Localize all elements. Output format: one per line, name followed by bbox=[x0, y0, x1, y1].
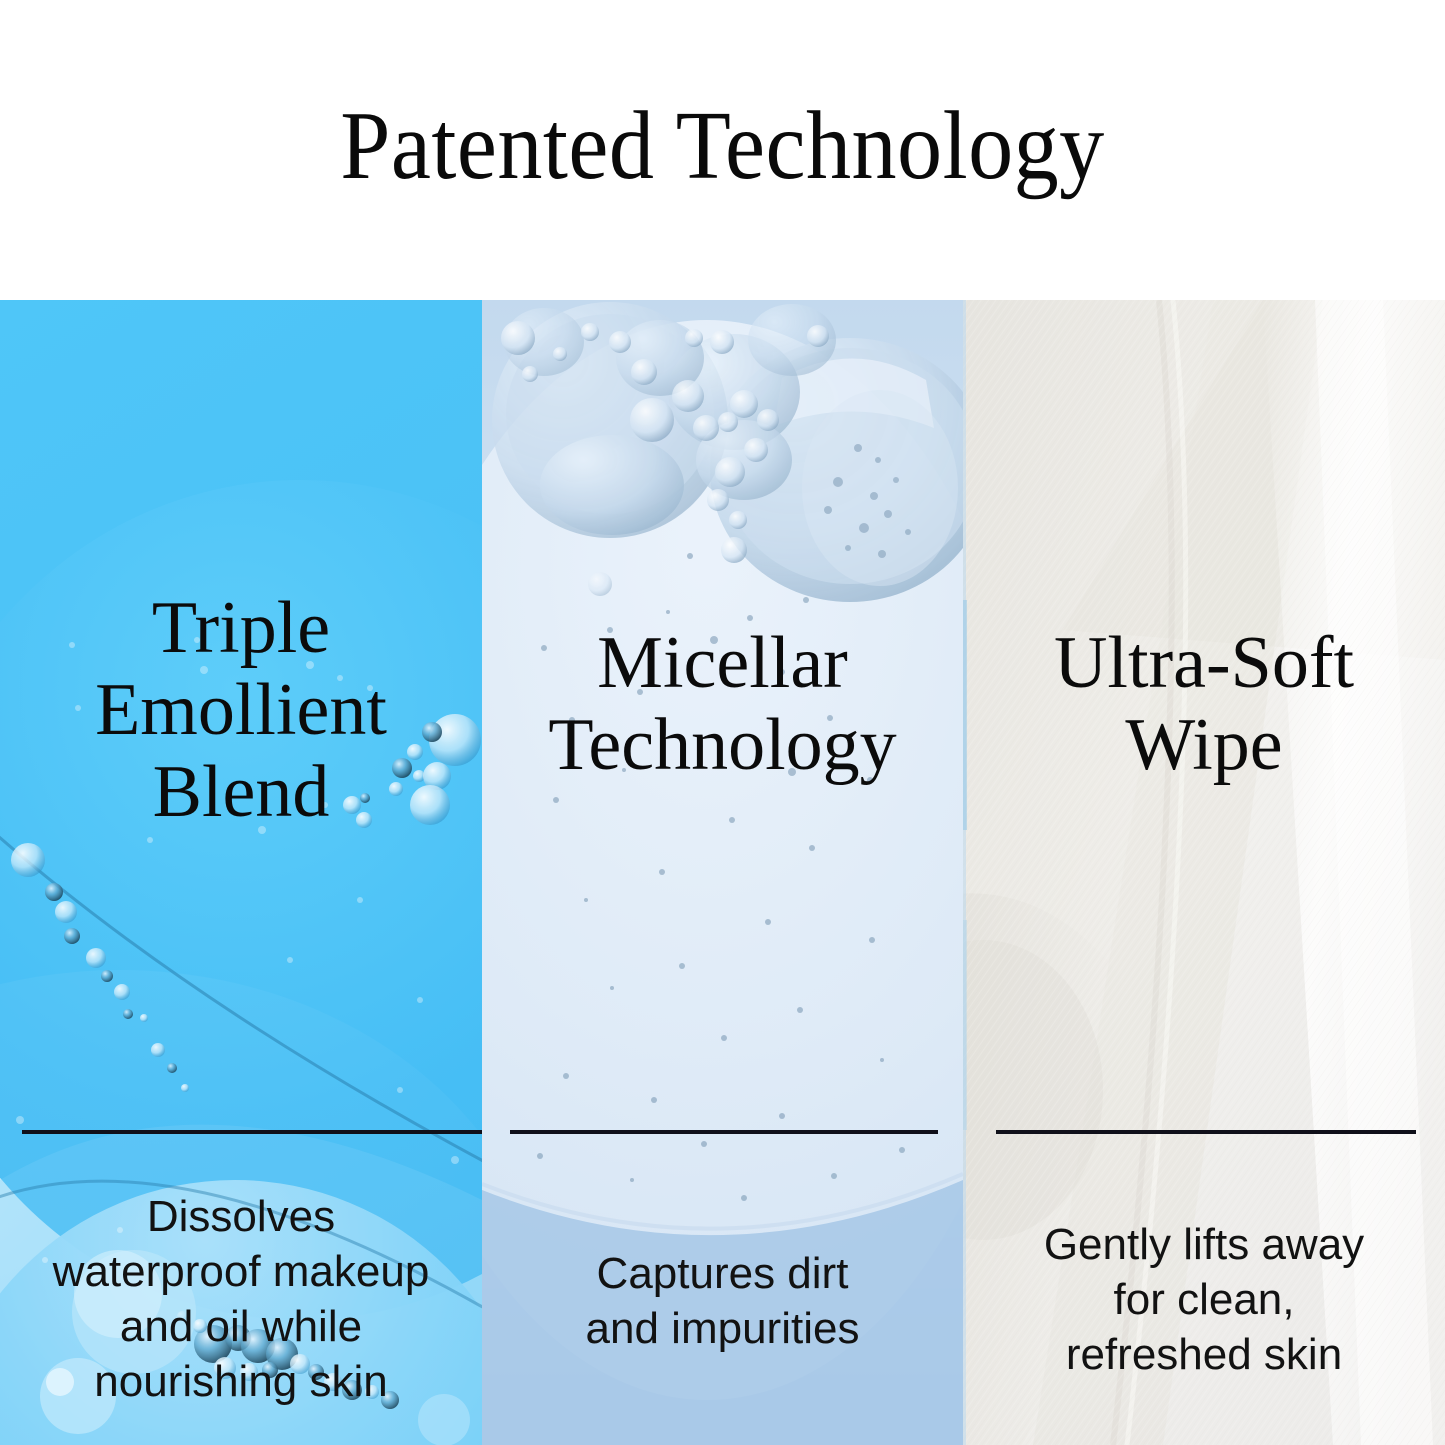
panel-triple-emollient-blend: Triple Emollient Blend Dissolves waterpr… bbox=[0, 300, 482, 1445]
header-band: Patented Technology bbox=[0, 0, 1445, 300]
page-title: Patented Technology bbox=[58, 92, 1387, 200]
panel-micellar-technology: Micellar Technology Captures dirt and im… bbox=[482, 300, 963, 1445]
panel-divider-1 bbox=[22, 1130, 482, 1134]
panel-ultra-soft-wipe: Ultra-Soft Wipe Gently lifts away for cl… bbox=[963, 300, 1445, 1445]
panel-heading-ultra-soft-wipe: Ultra-Soft Wipe bbox=[963, 622, 1445, 786]
panel-body-triple-emollient-blend: Dissolves waterproof makeup and oil whil… bbox=[0, 1189, 482, 1409]
infographic-page: Patented Technology bbox=[0, 0, 1445, 1445]
panel-heading-micellar-technology: Micellar Technology bbox=[482, 622, 963, 786]
panel-body-micellar-technology: Captures dirt and impurities bbox=[482, 1246, 963, 1356]
panel-divider-3 bbox=[996, 1130, 1416, 1134]
panel-body-ultra-soft-wipe: Gently lifts away for clean, refreshed s… bbox=[963, 1217, 1445, 1382]
panel-heading-triple-emollient-blend: Triple Emollient Blend bbox=[0, 587, 482, 833]
feature-panels: Triple Emollient Blend Dissolves waterpr… bbox=[0, 300, 1445, 1445]
panel-divider-2 bbox=[510, 1130, 938, 1134]
